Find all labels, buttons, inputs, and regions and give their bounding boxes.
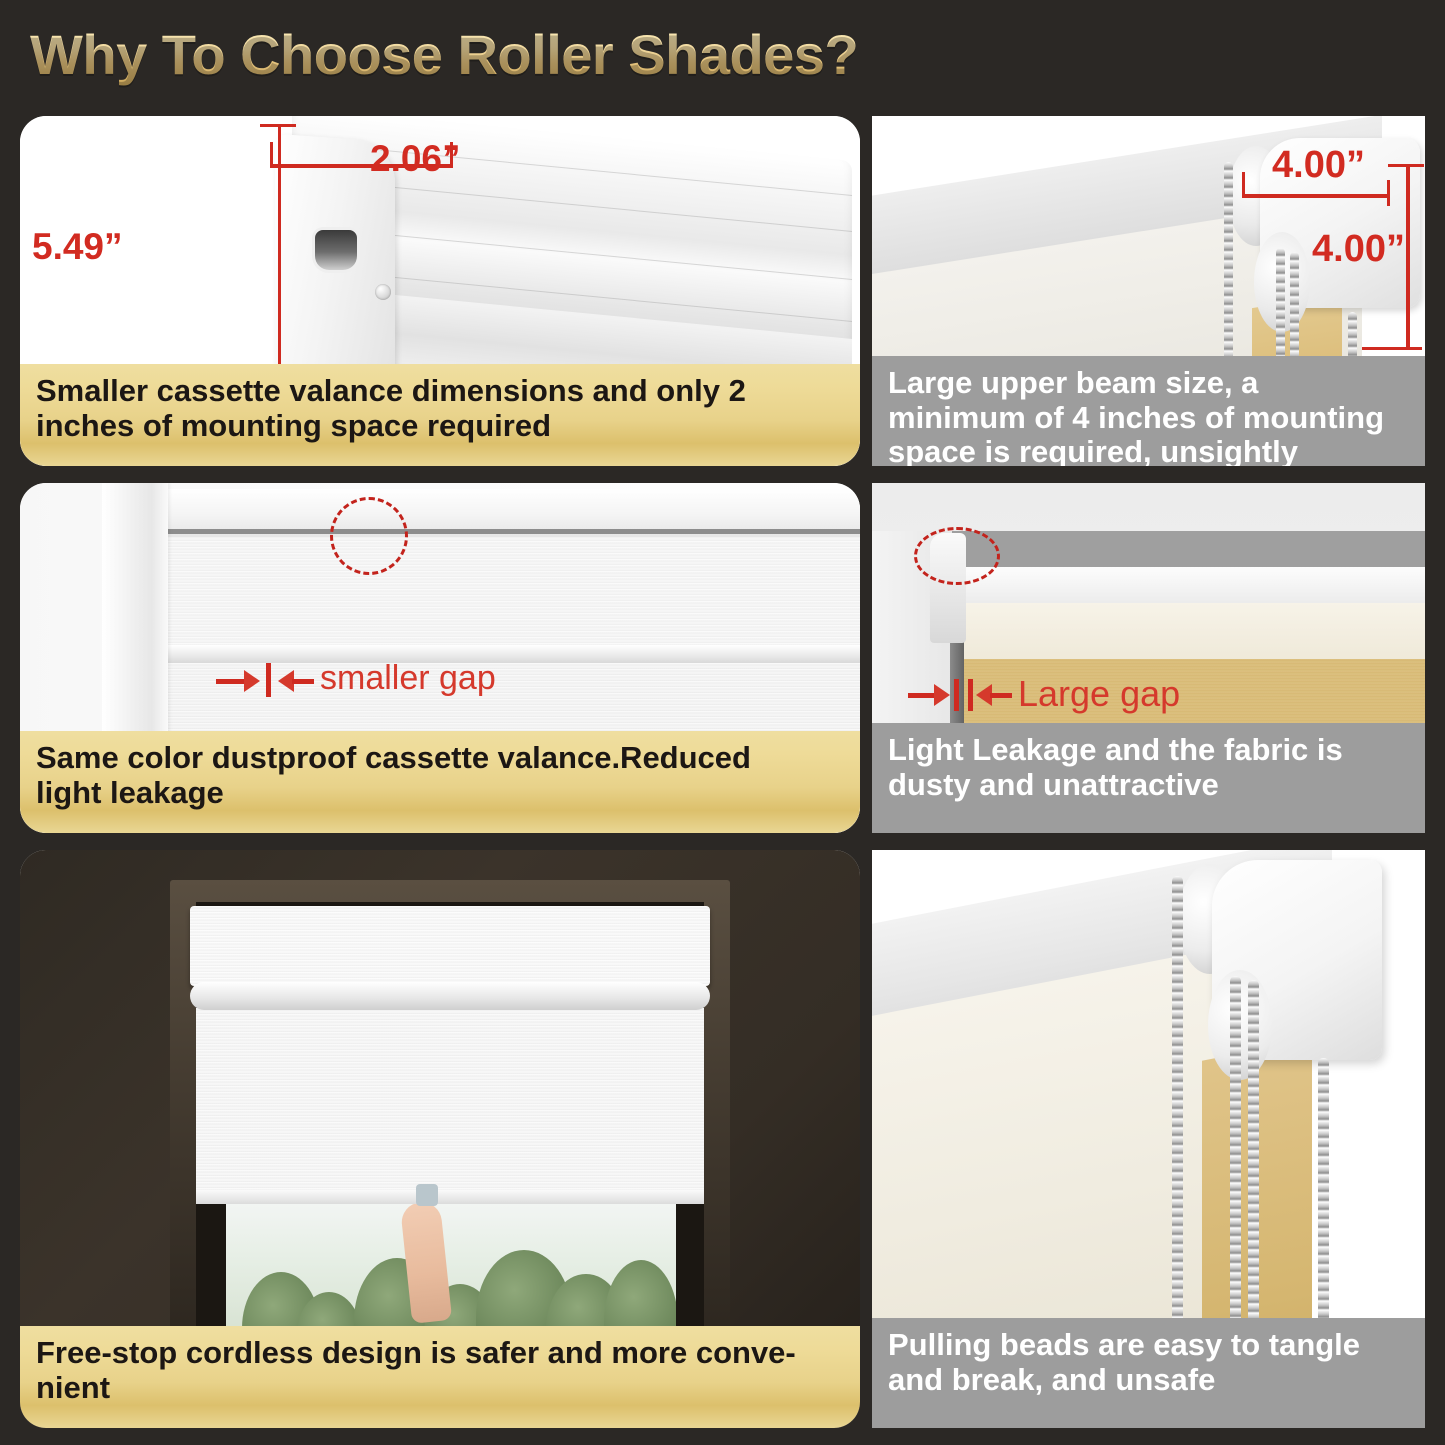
caption-line: Light Leakage and the fabric is [888, 733, 1409, 768]
caption-line: Smaller cassette valance dimensions and … [36, 374, 844, 409]
width-dimension-label: 2.06” [370, 138, 461, 180]
caption-line: dusty and unattractive [888, 768, 1409, 803]
panel-bad-light-leakage[interactable]: Large gap Light Leakage and the fabric i… [872, 483, 1425, 833]
height-dimension-tick [1362, 347, 1422, 350]
caption-line: inches of mounting space required [36, 409, 844, 444]
caption-good-cordless: Free-stop cordless design is safer and m… [20, 1326, 860, 1428]
width-dimension-label: 4.00” [1272, 144, 1365, 187]
caption-line: minimum of 4 inches of mounting [888, 401, 1409, 436]
window-jamb [102, 483, 168, 753]
endcap-slot [315, 230, 357, 270]
roller-shade-fabric [196, 1008, 704, 1198]
caption-bad-light-leakage: Light Leakage and the fabric is dusty an… [872, 723, 1425, 833]
panel-bad-upper-beam[interactable]: 4.00” 4.00” Large upper beam size, a min… [872, 116, 1425, 466]
gap-marker [954, 679, 959, 711]
page-title: Why To Choose Roller Shades? [30, 22, 858, 87]
gap-marker [266, 663, 271, 697]
gap-label: smaller gap [320, 659, 496, 698]
height-dimension-tick [1388, 164, 1424, 167]
panel-good-cassette[interactable]: 2.06” 5.49” Smaller cassette valance dim… [20, 116, 860, 466]
gap-label: Large gap [1018, 673, 1180, 715]
shade-hem-bar [196, 1190, 704, 1204]
highlight-circle-annotation [330, 497, 408, 575]
width-dimension-tick [1242, 172, 1245, 198]
width-dimension-line [1242, 194, 1390, 198]
height-dimension-line [1406, 164, 1410, 350]
shade-upper [163, 535, 860, 649]
cassette-seam [160, 529, 860, 534]
gap-arrow-left-shaft [908, 693, 936, 698]
header-bar: Why To Choose Roller Shades? [0, 0, 1445, 108]
panel-bad-pull-beads[interactable]: Pulling beads are easy to tangle and bre… [872, 850, 1425, 1428]
gap-arrow-left-shaft [216, 679, 246, 684]
gap-arrow-left-head [934, 684, 950, 706]
height-dimension-label: 4.00” [1312, 228, 1405, 271]
caption-good-dustproof: Same color dustproof cassette valance.Re… [20, 731, 860, 833]
gap-arrow-right-shaft [292, 679, 314, 684]
width-dimension-tick [1387, 180, 1390, 206]
width-dimension-tick [270, 142, 273, 168]
height-dimension-label: 5.49” [32, 226, 123, 268]
gap-arrow-right-shaft [990, 693, 1012, 698]
panel-good-dustproof[interactable]: smaller gap Same color dustproof cassett… [20, 483, 860, 833]
bead-chain [1230, 976, 1241, 1328]
comparison-grid: 2.06” 5.49” Smaller cassette valance dim… [0, 108, 1445, 1445]
screw-icon [375, 284, 391, 300]
caption-line: Free-stop cordless design is safer and m… [36, 1336, 844, 1371]
caption-line: space is required, unsightly [888, 435, 1409, 466]
gap-arrow-left-head [244, 670, 260, 692]
bead-chain [1318, 1058, 1329, 1328]
caption-line: light leakage [36, 776, 844, 811]
caption-good-cassette: Smaller cassette valance dimensions and … [20, 364, 860, 466]
caption-bad-pull-beads: Pulling beads are easy to tangle and bre… [872, 1318, 1425, 1428]
caption-bad-upper-beam: Large upper beam size, a minimum of 4 in… [872, 356, 1425, 466]
cassette-valance [190, 906, 710, 986]
caption-line: and break, and unsafe [888, 1363, 1409, 1398]
panel-good-cordless[interactable]: Free-stop cordless design is safer and m… [20, 850, 860, 1428]
bead-chain [1248, 980, 1259, 1328]
shade-rail [160, 645, 860, 665]
caption-line: Large upper beam size, a [888, 366, 1409, 401]
highlight-circle-annotation [914, 527, 1000, 585]
caption-line: Same color dustproof cassette valance.Re… [36, 741, 844, 776]
caption-line: nient [36, 1371, 844, 1406]
height-dimension-tick [260, 124, 296, 127]
pull-tab [416, 1184, 438, 1206]
gap-marker [968, 679, 973, 711]
valance-rail [190, 982, 710, 1010]
caption-line: Pulling beads are easy to tangle [888, 1328, 1409, 1363]
bead-chain [1172, 876, 1183, 1328]
